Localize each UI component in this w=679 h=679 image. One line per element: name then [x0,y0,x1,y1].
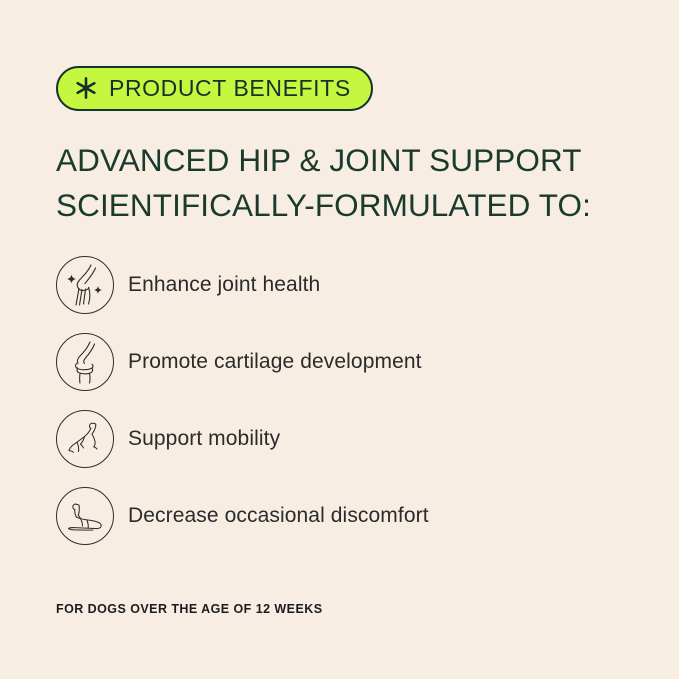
product-benefits-panel: PRODUCT BENEFITS ADVANCED HIP & JOINT SU… [0,0,679,679]
list-item-label: Enhance joint health [128,272,320,297]
resting-dog-icon [56,487,114,545]
benefits-list: Enhance joint health Promote cartilage d… [56,256,616,564]
page-title: ADVANCED HIP & JOINT SUPPORT SCIENTIFICA… [56,138,636,228]
product-benefits-badge: PRODUCT BENEFITS [56,66,373,111]
age-disclaimer: FOR DOGS OVER THE AGE OF 12 WEEKS [56,602,323,616]
list-item: Promote cartilage development [56,333,616,391]
list-item-label: Decrease occasional discomfort [128,503,429,528]
list-item: Decrease occasional discomfort [56,487,616,545]
joint-sparkle-icon [56,256,114,314]
page-title-line-1: ADVANCED HIP & JOINT SUPPORT [56,138,636,183]
list-item: Support mobility [56,410,616,468]
knee-joint-icon [56,333,114,391]
list-item: Enhance joint health [56,256,616,314]
badge-row: PRODUCT BENEFITS [56,66,373,111]
page-title-line-2: SCIENTIFICALLY-FORMULATED TO: [56,183,636,228]
badge-label: PRODUCT BENEFITS [109,77,351,100]
asterisk-icon [74,76,98,100]
list-item-label: Support mobility [128,426,280,451]
list-item-label: Promote cartilage development [128,349,422,374]
running-dog-icon [56,410,114,468]
